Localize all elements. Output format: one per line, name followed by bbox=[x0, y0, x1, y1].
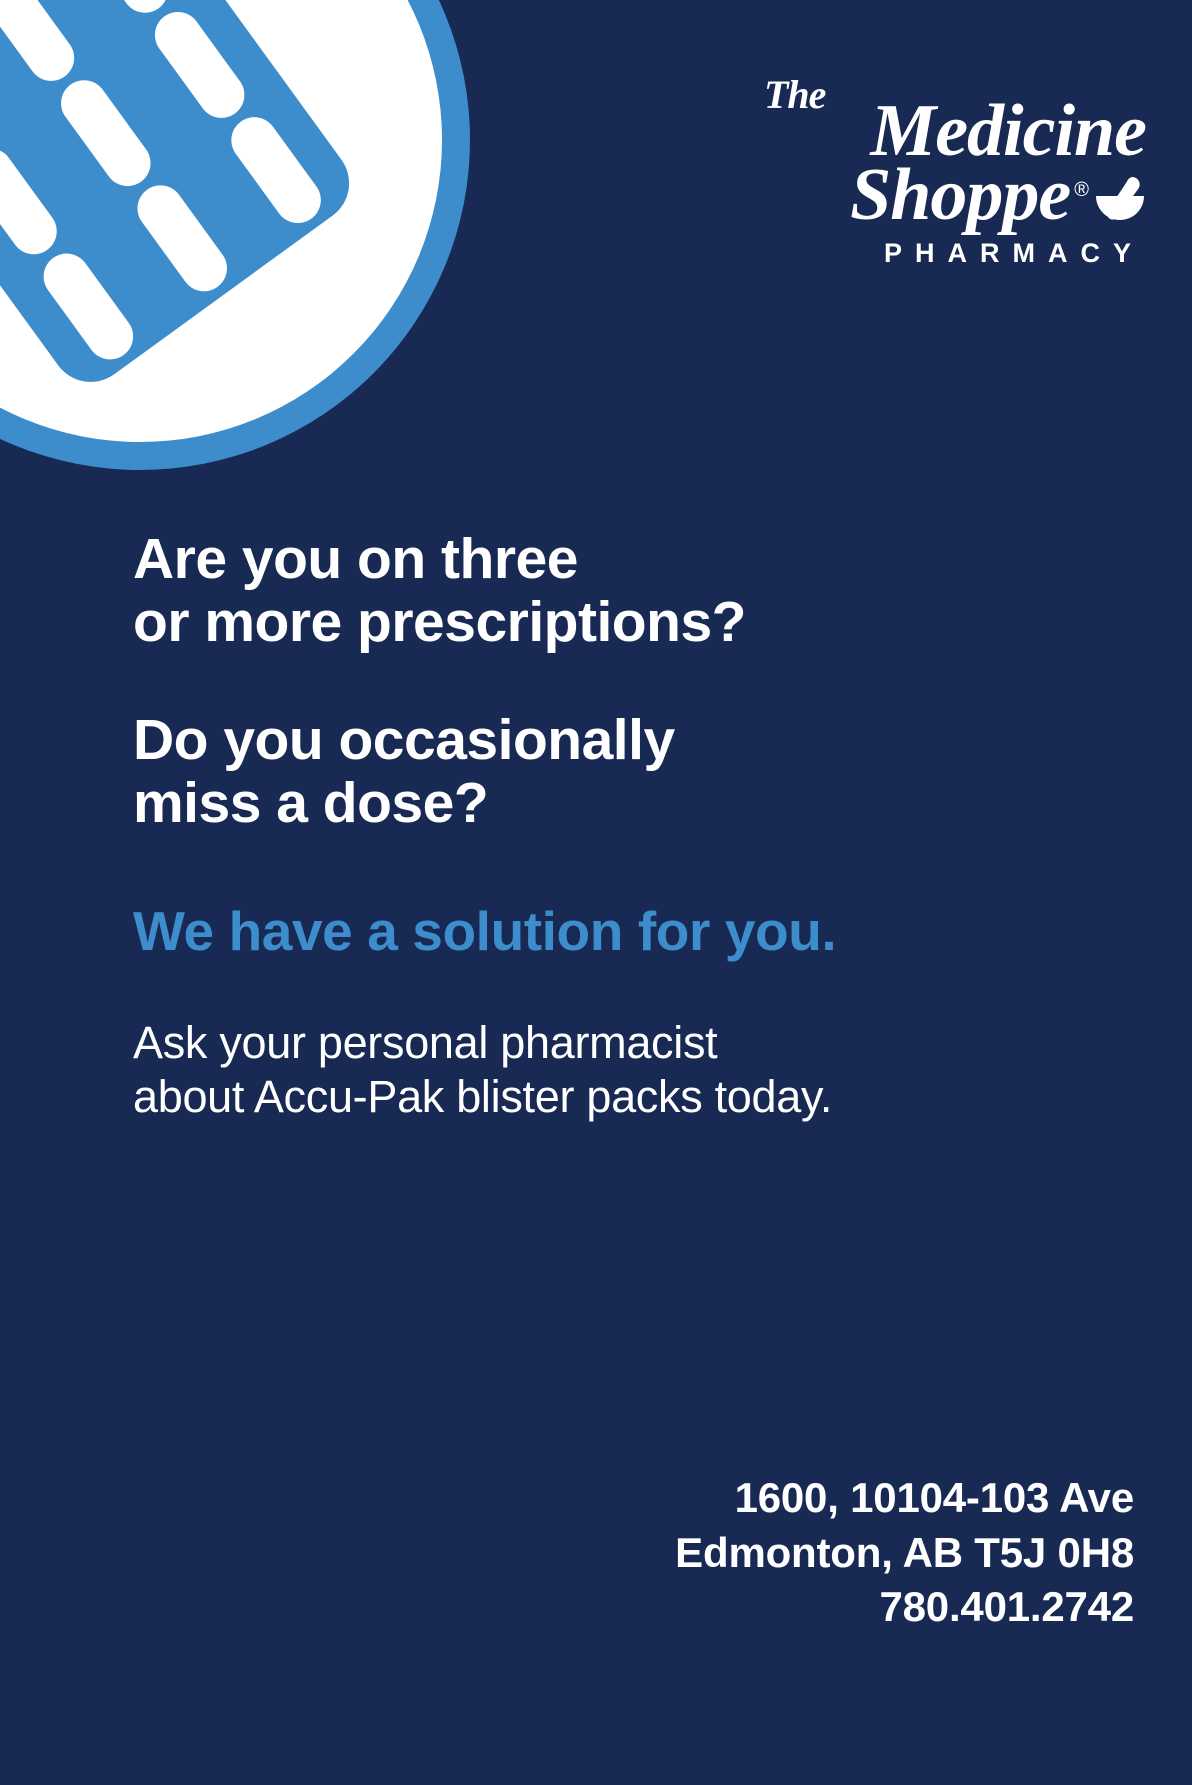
headline-one: Are you on three or more prescriptions? bbox=[133, 528, 1082, 653]
address-city-region: Edmonton, AB T5J 0H8 bbox=[675, 1526, 1134, 1581]
registered-trademark-icon: ® bbox=[1074, 180, 1088, 200]
logo-wordmark: The Medicine Shoppe ® bbox=[746, 78, 1146, 228]
logo-word-shoppe: Shoppe bbox=[850, 164, 1070, 228]
headline-two-line2: miss a dose? bbox=[133, 771, 488, 835]
blister-pack-badge bbox=[0, 0, 470, 470]
logo-tagline-pharmacy: PHARMACY bbox=[746, 238, 1146, 269]
body-line2: about Accu-Pak blister packs today. bbox=[133, 1071, 832, 1122]
store-address-block: 1600, 10104-103 Ave Edmonton, AB T5J 0H8… bbox=[675, 1471, 1134, 1635]
body-line1: Ask your personal pharmacist bbox=[133, 1017, 717, 1068]
pharmacy-poster: The Medicine Shoppe ® PHARMACY Are you o… bbox=[0, 0, 1192, 1785]
headline-one-line1: Are you on three bbox=[133, 527, 578, 591]
solution-statement: We have a solution for you. bbox=[133, 901, 1082, 963]
headline-two: Do you occasionally miss a dose? bbox=[133, 709, 1082, 834]
poster-copy: Are you on three or more prescriptions? … bbox=[133, 528, 1082, 1124]
mortar-and-pestle-icon bbox=[1094, 174, 1146, 224]
logo-second-row: Shoppe ® bbox=[746, 164, 1146, 228]
address-phone[interactable]: 780.401.2742 bbox=[675, 1580, 1134, 1635]
medicine-shoppe-logo: The Medicine Shoppe ® PHARMACY bbox=[746, 78, 1146, 269]
address-street: 1600, 10104-103 Ave bbox=[675, 1471, 1134, 1526]
call-to-action-text: Ask your personal pharmacist about Accu-… bbox=[133, 1016, 1082, 1124]
headline-two-line1: Do you occasionally bbox=[133, 708, 675, 772]
headline-one-line2: or more prescriptions? bbox=[133, 590, 746, 654]
